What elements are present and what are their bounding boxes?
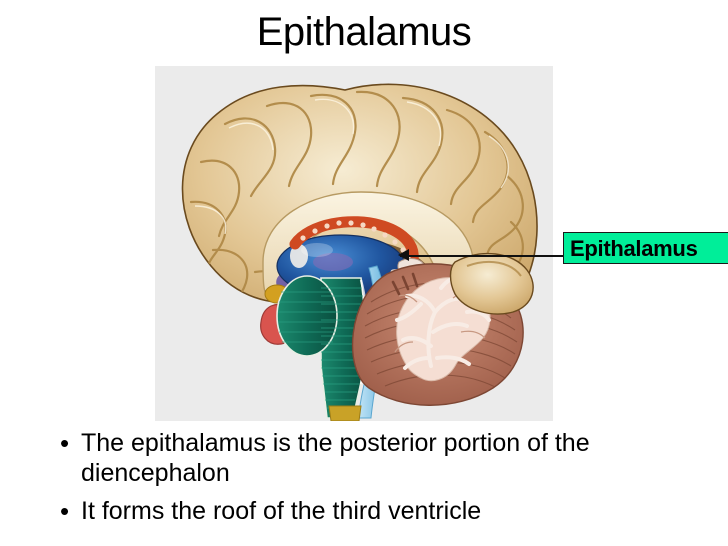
bullet-list: • The epithalamus is the posterior porti… bbox=[55, 428, 705, 534]
callout-label-box: Epithalamus bbox=[563, 232, 728, 264]
brain-figure-panel bbox=[155, 66, 553, 421]
callout-label-text: Epithalamus bbox=[570, 236, 698, 262]
bullet-marker-icon: • bbox=[55, 496, 81, 526]
bullet-text: It forms the roof of the third ventricle bbox=[81, 496, 671, 526]
sagittal-brain-illustration bbox=[155, 66, 553, 421]
bullet-marker-icon: • bbox=[55, 428, 81, 458]
thalamus-highlight bbox=[301, 243, 333, 257]
bullet-text: The epithalamus is the posterior portion… bbox=[81, 428, 671, 488]
list-item: • The epithalamus is the posterior porti… bbox=[55, 428, 705, 488]
list-item: • It forms the roof of the third ventric… bbox=[55, 496, 705, 526]
callout-arrowhead-icon bbox=[398, 249, 409, 261]
page-title: Epithalamus bbox=[0, 8, 728, 56]
callout-leader-line bbox=[400, 255, 564, 257]
spinal-cord bbox=[329, 406, 361, 421]
